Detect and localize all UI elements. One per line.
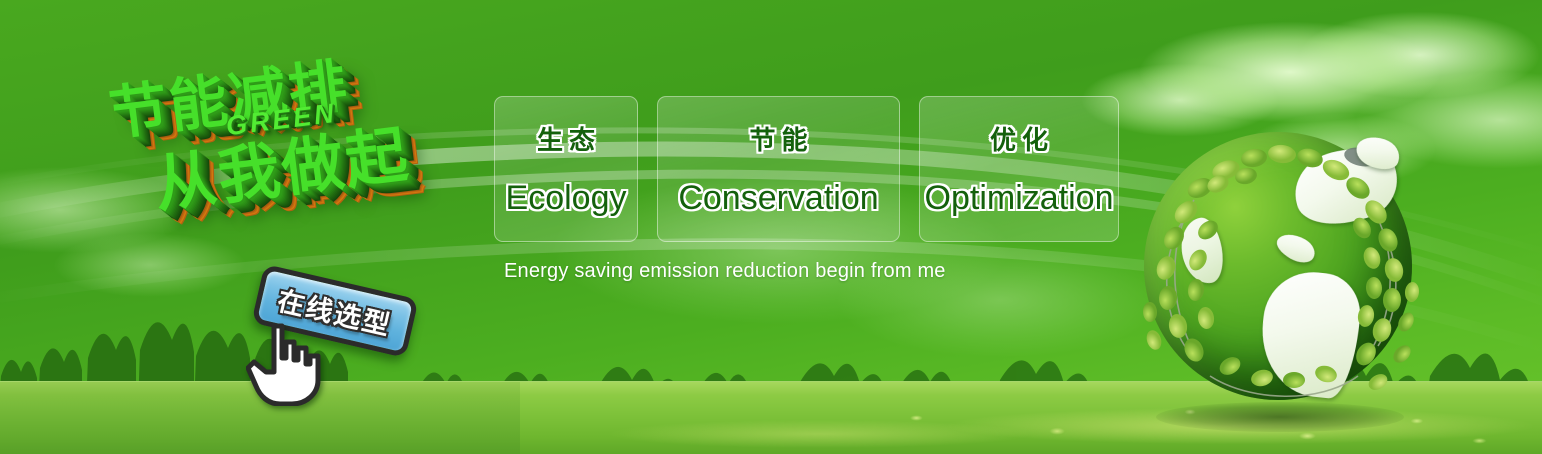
feature-card-optimization-en: Optimization [925, 179, 1114, 218]
headline-3d-block: 节能减排 GREEN 从我做起 [91, 14, 516, 291]
continent-west-patch [1177, 215, 1228, 287]
feature-card-ecology-cn: 生态 [531, 120, 601, 157]
continent-grey-patch [1343, 145, 1380, 170]
grass-field [0, 381, 1542, 454]
feature-card-optimization[interactable]: 优化 Optimization [919, 96, 1119, 242]
feature-card-ecology[interactable]: 生态 Ecology [494, 96, 638, 242]
feature-card-conservation-cn: 节能 [743, 120, 813, 157]
green-energy-banner: 节能减排 GREEN 从我做起 在线选型 生态 Ecology 节能 Conse… [0, 0, 1542, 454]
feature-card-conservation-en: Conservation [678, 179, 878, 218]
headline-line-2: 从我做起 [149, 104, 414, 225]
continent-central-america [1273, 228, 1320, 269]
banner-subtitle: Energy saving emission reduction begin f… [504, 260, 946, 283]
online-selection-button[interactable]: 在线选型 [251, 264, 418, 358]
continent-north-america [1287, 138, 1405, 233]
feature-card-ecology-en: Ecology [506, 179, 627, 218]
feature-card-optimization-cn: 优化 [984, 120, 1054, 157]
headline-line-1: 节能减排 [104, 38, 352, 151]
feature-card-conservation[interactable]: 节能 Conservation [657, 96, 900, 242]
feature-card-list: 生态 Ecology 节能 Conservation 优化 Optimizati… [494, 96, 1119, 242]
continent-greenland [1352, 132, 1403, 174]
headline-accent-green: GREEN [224, 98, 338, 142]
online-selection-button-label: 在线选型 [259, 275, 412, 346]
globe-sphere [1144, 132, 1412, 400]
